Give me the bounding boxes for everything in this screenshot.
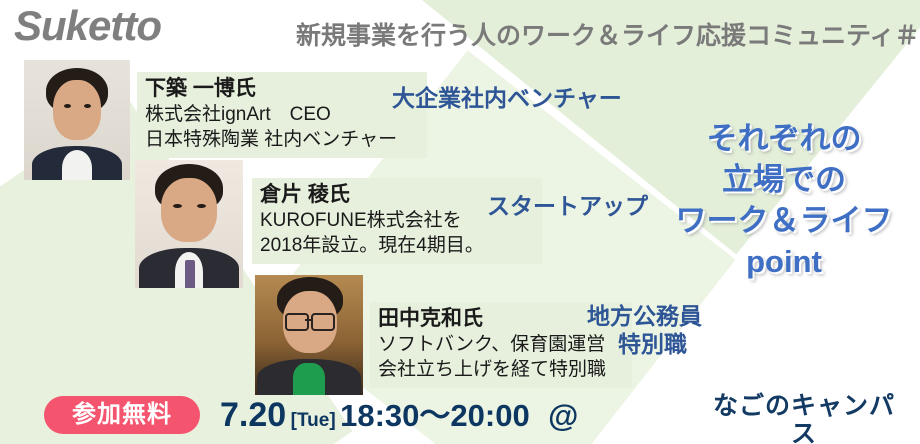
headline-line-3: ワーク＆ライフ — [652, 200, 916, 241]
speaker-photo-1 — [24, 60, 130, 180]
speaker-info-2: 倉片 稜氏 KUROFUNE株式会社を 2018年設立。現在4期目。 — [252, 178, 542, 264]
event-date: 7.20 — [220, 396, 286, 434]
category-tag-public-servant: 地方公務員 特別職 — [587, 302, 702, 358]
at-symbol: @ — [534, 398, 578, 433]
speaker-detail-1-line1: 株式会社ignArt CEO — [145, 102, 417, 127]
venue-logo-nagono-campus: なごのキャンパス NAGONO CAMPUS — [706, 392, 902, 444]
free-admission-badge: 参加無料 — [44, 396, 200, 434]
category-tag-corporate-venture: 大企業社内ベンチャー — [392, 84, 622, 112]
speaker-detail-3-line1: ソフトバンク、保育園運営 — [378, 332, 622, 357]
category-tag-public-servant-line1: 地方公務員 — [587, 303, 702, 329]
flyer-subtitle: 新規事業を行う人のワーク＆ライフ応援コミュニティ＃3 — [296, 16, 920, 52]
speaker-photo-3 — [255, 275, 363, 395]
event-datetime: 7.20 [Tue] 18:30〜20:00 @ — [220, 394, 578, 443]
speaker-detail-2-line2: 2018年設立。現在4期目。 — [260, 233, 532, 258]
speaker-detail-1-line2: 日本特殊陶業 社内ベンチャー — [145, 127, 417, 152]
category-tag-startup: スタートアップ — [487, 192, 648, 220]
event-day-of-week: [Tue] — [291, 410, 336, 431]
category-tag-public-servant-line2: 特別職 — [587, 330, 702, 358]
speaker-photo-2 — [135, 160, 243, 288]
main-headline: それぞれの 立場での ワーク＆ライフ point — [652, 118, 916, 282]
event-flyer: Suketto 新規事業を行う人のワーク＆ライフ応援コミュニティ＃3 — [0, 0, 920, 444]
speaker-name-1: 下築 一博氏 — [145, 76, 417, 102]
speaker-name-3: 田中克和氏 — [378, 306, 622, 332]
brand-logo-suketto: Suketto — [14, 2, 161, 50]
headline-line-1: それぞれの — [652, 118, 916, 159]
venue-name-jp: なごのキャンパス — [706, 392, 902, 444]
event-time: 18:30〜20:00 — [340, 398, 530, 433]
headline-line-2: 立場での — [652, 159, 916, 200]
speaker-detail-3-line2: 会社立ち上げを経て特別職 — [378, 357, 622, 382]
speaker-info-1: 下築 一博氏 株式会社ignArt CEO 日本特殊陶業 社内ベンチャー — [137, 72, 427, 158]
headline-line-4: point — [652, 241, 916, 282]
